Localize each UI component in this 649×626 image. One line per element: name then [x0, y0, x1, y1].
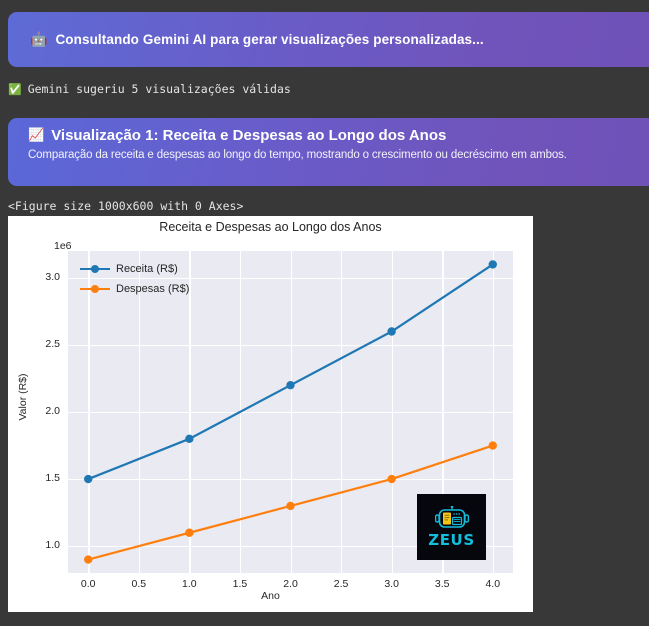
data-point — [84, 475, 92, 483]
x-tick-label: 3.0 — [384, 578, 399, 590]
data-point — [489, 441, 497, 449]
status-banner: 🤖 Consultando Gemini AI para gerar visua… — [8, 12, 649, 67]
x-tick-label: 1.5 — [233, 578, 248, 590]
x-tick-label: 4.0 — [485, 578, 500, 590]
robot-emoji-icon: 🤖 — [30, 33, 47, 47]
visualization-description: Comparação da receita e despesas ao long… — [28, 149, 649, 161]
visualization-banner: 📈 Visualização 1: Receita e Despesas ao … — [8, 118, 649, 186]
x-tick-label: 0.0 — [81, 578, 96, 590]
x-tick-label: 2.5 — [334, 578, 349, 590]
robot-logo-icon — [435, 506, 469, 532]
success-message: ✅ Gemini sugeriu 5 visualizações válidas — [8, 80, 508, 98]
legend-item-receita: Receita (R$) — [80, 261, 189, 277]
chart-legend: Receita (R$) Despesas (R$) — [80, 261, 189, 297]
figure-repr-text: <Figure size 1000x600 with 0 Axes> — [8, 199, 243, 213]
x-axis-label: Ano — [8, 590, 533, 602]
data-point — [286, 381, 294, 389]
x-tick-label: 1.0 — [182, 578, 197, 590]
x-tick-label: 2.0 — [283, 578, 298, 590]
data-point — [387, 327, 395, 335]
visualization-title-text: Visualização 1: Receita e Despesas ao Lo… — [51, 127, 446, 144]
check-mark-emoji-icon: ✅ — [8, 84, 22, 95]
legend-marker-receita — [80, 263, 110, 275]
legend-item-despesas: Despesas (R$) — [80, 281, 189, 297]
chart-figure: Receita e Despesas ao Longo dos Anos 1e6… — [8, 216, 533, 612]
data-point — [185, 529, 193, 537]
screenshot-root: 🤖 Consultando Gemini AI para gerar visua… — [0, 0, 649, 626]
zeus-watermark: ZEUS — [417, 494, 486, 560]
visualization-title: 📈 Visualização 1: Receita e Despesas ao … — [28, 127, 649, 144]
x-tick-label: 3.5 — [435, 578, 450, 590]
data-point — [286, 502, 294, 510]
data-point — [185, 435, 193, 443]
data-point — [489, 260, 497, 268]
success-message-text: Gemini sugeriu 5 visualizações válidas — [28, 82, 291, 96]
status-banner-text: Consultando Gemini AI para gerar visuali… — [55, 32, 483, 47]
data-point — [387, 475, 395, 483]
legend-label-despesas: Despesas (R$) — [116, 283, 189, 295]
legend-label-receita: Receita (R$) — [116, 263, 178, 275]
chart-increasing-emoji-icon: 📈 — [28, 129, 44, 142]
zeus-watermark-text: ZEUS — [428, 533, 475, 548]
legend-marker-despesas — [80, 283, 110, 295]
chart-title: Receita e Despesas ao Longo dos Anos — [8, 220, 533, 234]
data-point — [84, 555, 92, 563]
y-axis-label: Valor (R$) — [17, 367, 29, 427]
x-tick-label: 0.5 — [131, 578, 146, 590]
